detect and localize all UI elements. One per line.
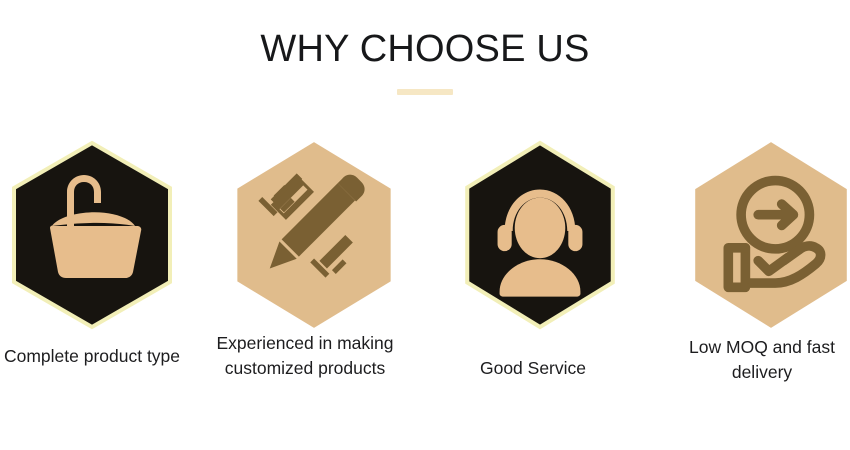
feature-item-complete-product-type[interactable]: Complete product type	[0, 140, 198, 420]
feature-item-customized-products[interactable]: Experienced in making customized product…	[199, 140, 411, 420]
hexagon-badge-dark	[9, 140, 175, 330]
hexagon-badge-tan	[688, 140, 836, 318]
feature-caption: Low MOQ and fast delivery	[656, 335, 850, 385]
feature-caption: Good Service	[427, 356, 639, 381]
section-header: WHY CHOOSE US	[0, 26, 850, 95]
feature-caption: Experienced in making customized product…	[199, 331, 411, 381]
hexagon-shape	[695, 142, 847, 328]
feature-list: Complete product type	[0, 140, 850, 420]
title-divider	[397, 89, 453, 95]
feature-item-low-moq-fast-delivery[interactable]: Low MOQ and fast delivery	[656, 140, 850, 420]
feature-caption: Complete product type	[0, 344, 198, 369]
feature-item-good-service[interactable]: Good Service	[427, 140, 639, 420]
page-title: WHY CHOOSE US	[0, 26, 850, 72]
hexagon-badge-tan	[231, 140, 379, 316]
why-choose-us-section: WHY CHOOSE US Complete product type	[0, 0, 850, 450]
hexagon-badge-dark	[457, 140, 609, 328]
